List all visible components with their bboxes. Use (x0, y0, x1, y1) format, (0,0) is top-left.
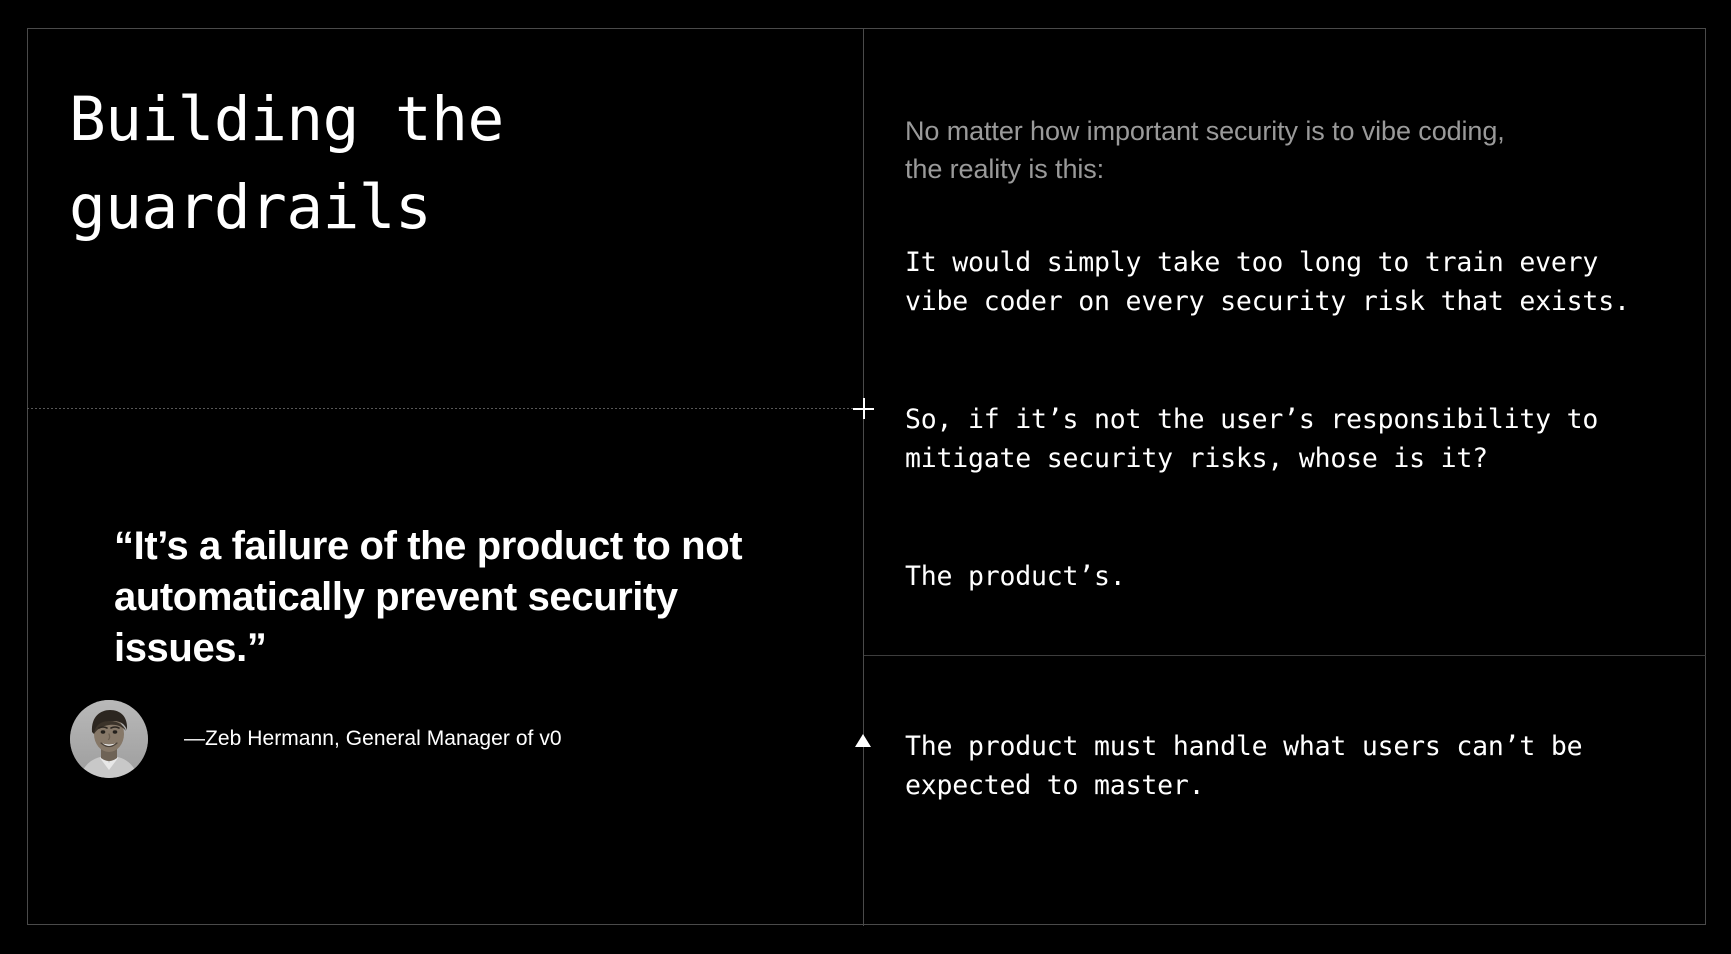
triangle-up-icon (855, 734, 871, 747)
body-paragraph-1: It would simply take too long to train e… (905, 243, 1645, 321)
body-paragraph-4: The product must handle what users can’t… (905, 727, 1645, 805)
body-paragraph-3: The product’s. (905, 557, 1645, 596)
vertical-divider (863, 28, 864, 926)
attribution-label: —Zeb Hermann, General Manager of v0 (184, 725, 562, 752)
horizontal-divider-right (864, 655, 1706, 656)
plus-crosshair-icon (853, 398, 874, 419)
page-title: Building the guardrails (69, 76, 789, 253)
avatar (70, 700, 148, 778)
quote-attribution: —Zeb Hermann, General Manager of v0 (70, 700, 562, 778)
horizontal-divider-left (27, 408, 864, 409)
intro-paragraph: No matter how important security is to v… (905, 112, 1545, 189)
slide-canvas: Building the guardrails “It’s a failure … (0, 0, 1731, 954)
body-paragraph-2: So, if it’s not the user’s responsibilit… (905, 400, 1645, 478)
pull-quote-text: “It’s a failure of the product to not au… (114, 521, 814, 675)
